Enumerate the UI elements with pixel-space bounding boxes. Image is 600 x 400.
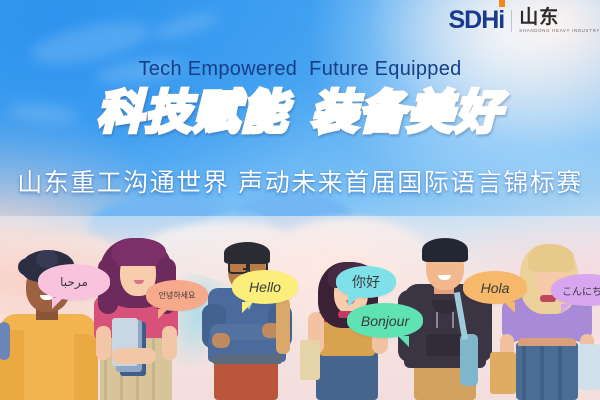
bubble-tail <box>158 309 168 319</box>
main-headline: 科技赋能装备美好 <box>0 88 600 136</box>
bubble-text-korean: 안녕하세요 <box>159 290 196 301</box>
students-illustration <box>0 230 600 400</box>
event-subtitle: 山东重工沟通世界声动未来首届国际语言锦标赛 <box>0 163 600 199</box>
sdhi-logo: SDHi 山东 SHANDONG HEAVY INDUSTRY <box>448 8 600 33</box>
tagline-left: Tech Empowered <box>138 58 297 80</box>
speech-bubble-chinese: 你好 <box>336 266 396 298</box>
speech-bubble-korean: 안녕하세요 <box>146 280 208 311</box>
bubble-tail <box>348 296 359 307</box>
logo-chinese-pinyin: SHANDONG HEAVY INDUSTRY <box>519 29 600 33</box>
logo-i-letter: i <box>498 8 504 33</box>
bubble-text-japanese: こんにちは <box>562 283 600 298</box>
subtitle-right: 声动未来首届国际语言锦标赛 <box>238 169 583 197</box>
bubble-text-spanish: Hola <box>481 280 510 296</box>
bubble-text-chinese: 你好 <box>352 272 380 292</box>
bubble-tail <box>398 336 409 347</box>
english-tagline: Tech EmpoweredFuture Equipped <box>0 58 600 81</box>
logo-sdh-text: SDH <box>448 8 498 33</box>
bubble-text-english: Hello <box>249 279 281 295</box>
bubble-text-french: Bonjour <box>361 313 409 329</box>
speech-bubble-french: Bonjour <box>347 303 423 338</box>
bubble-tail <box>242 302 253 313</box>
logo-chinese-block: 山东 SHANDONG HEAVY INDUSTRY <box>519 8 600 33</box>
logo-chinese-name: 山东 <box>519 8 600 27</box>
logo-wordmark: SDHi <box>448 8 504 33</box>
bubble-tail <box>561 304 571 314</box>
student-figure <box>492 228 600 400</box>
subtitle-left: 山东重工沟通世界 <box>17 169 229 197</box>
bubble-tail <box>504 302 515 313</box>
poster-banner: SDHi 山东 SHANDONG HEAVY INDUSTRY Tech Emp… <box>0 0 600 400</box>
bubble-text-arabic: مرحبا <box>60 275 88 289</box>
student-figure <box>78 228 196 400</box>
bubble-tail <box>52 298 63 309</box>
logo-divider <box>511 10 512 32</box>
headline-left: 科技赋能 <box>97 86 289 138</box>
speech-bubble-spanish: Hola <box>463 271 527 304</box>
headline-right: 装备美好 <box>311 86 503 138</box>
tagline-right: Future Equipped <box>309 58 461 80</box>
speech-bubble-english: Hello <box>232 270 298 304</box>
speech-bubble-arabic: مرحبا <box>38 264 110 300</box>
